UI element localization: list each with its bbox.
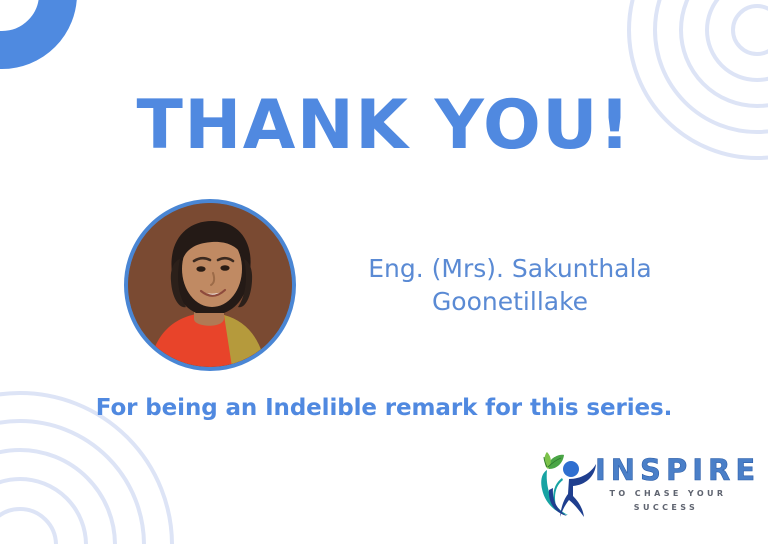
inspire-wordmark: INSPIRE <box>595 456 760 485</box>
honoree-name: Eng. (Mrs). Sakunthala Goonetillake <box>330 252 690 318</box>
portrait-illustration <box>128 203 292 367</box>
honoree-name-line-1: Eng. (Mrs). Sakunthala <box>330 252 690 285</box>
inspire-tagline-line-2: SUCCESS <box>597 504 735 512</box>
figure-head <box>563 461 579 477</box>
honoree-name-line-2: Goonetillake <box>330 285 690 318</box>
page-title: THANK YOU! <box>0 92 768 160</box>
inspire-tagline-line-1: TO CHASE YOUR <box>597 490 739 498</box>
avatar <box>124 199 296 371</box>
thank-you-card: THANK YOU! <box>0 0 768 544</box>
inspire-logo: INSPIRE TO CHASE YOUR SUCCESS <box>533 450 738 522</box>
inspire-figure-icon <box>533 452 601 518</box>
caption-text: For being an Indelible remark for this s… <box>0 395 768 421</box>
top-left-ring-decor <box>0 0 58 50</box>
leaf-icon <box>544 452 564 469</box>
